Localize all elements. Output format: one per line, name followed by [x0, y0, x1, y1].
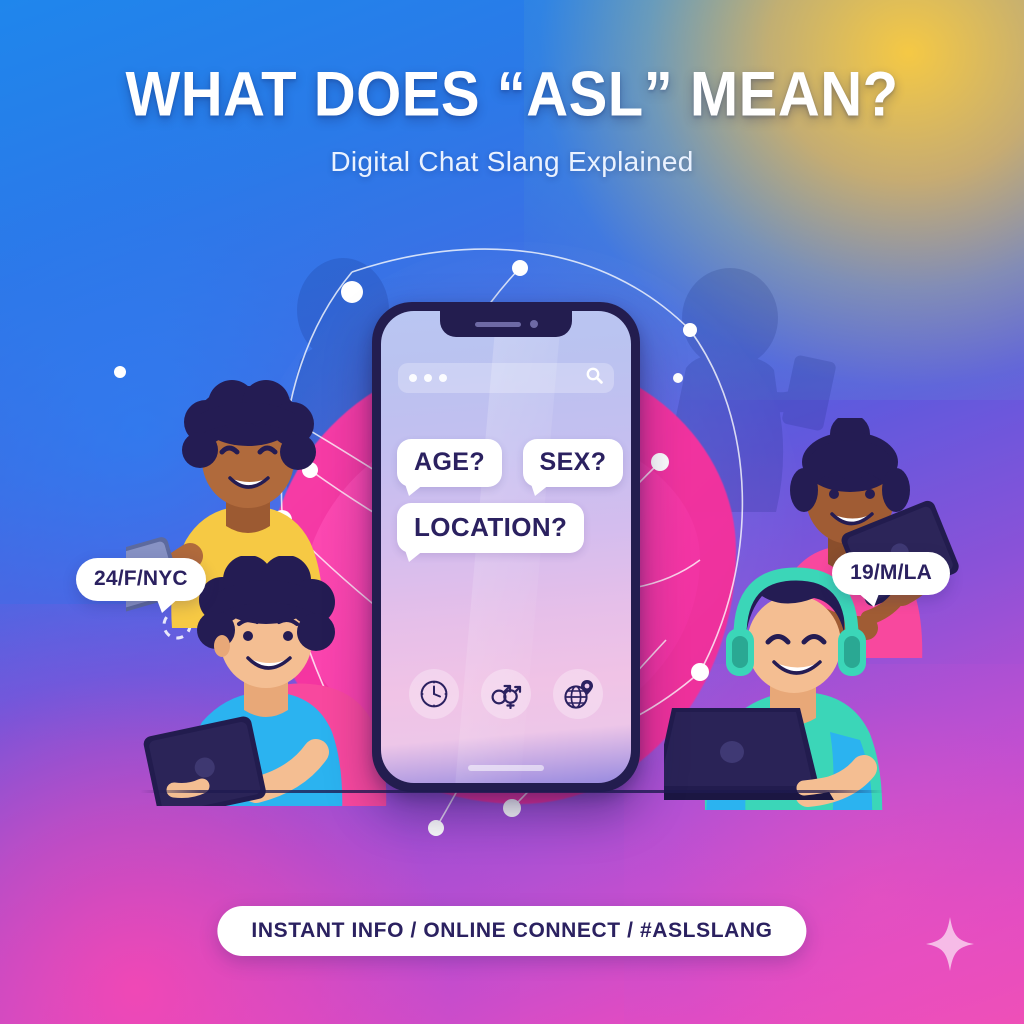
notch-camera [530, 320, 538, 328]
phone-mockup: AGE? SEX? LOCATION? [372, 302, 640, 792]
meaning-icon-row [381, 669, 631, 719]
search-bar[interactable] [398, 363, 614, 393]
phone-notch [440, 311, 572, 337]
clock-icon [409, 669, 459, 719]
speech-bubble-right: 19/M/LA [832, 552, 950, 595]
search-icon[interactable] [586, 367, 603, 389]
chat-bubble-age: AGE? [397, 439, 502, 487]
phone-screen: AGE? SEX? LOCATION? [381, 311, 631, 783]
browser-dot [439, 374, 447, 382]
character-headphones-laptop [664, 562, 926, 810]
page-title: WHAT DOES “ASL” MEAN? [0, 64, 1024, 127]
bottom-banner: INSTANT INFO / ONLINE CONNECT / #ASLSLAN… [217, 906, 806, 956]
home-indicator [468, 765, 544, 771]
infographic-canvas: AGE? SEX? LOCATION? [0, 0, 1024, 1024]
speech-bubble-left: 24/F/NYC [76, 558, 206, 601]
gender-symbols-icon [481, 669, 531, 719]
browser-dot [409, 374, 417, 382]
chat-bubble-list: AGE? SEX? LOCATION? [381, 439, 631, 569]
chat-bubble-location: LOCATION? [397, 503, 584, 553]
page-subtitle: Digital Chat Slang Explained [0, 146, 1024, 178]
notch-speaker [475, 322, 521, 327]
globe-location-pin-icon [553, 669, 603, 719]
browser-dot [424, 374, 432, 382]
ground-line [140, 790, 884, 793]
browser-dots [409, 374, 447, 382]
sparkle-icon [924, 915, 976, 978]
chat-bubble-sex: SEX? [523, 439, 624, 487]
header: WHAT DOES “ASL” MEAN? Digital Chat Slang… [0, 66, 1024, 178]
